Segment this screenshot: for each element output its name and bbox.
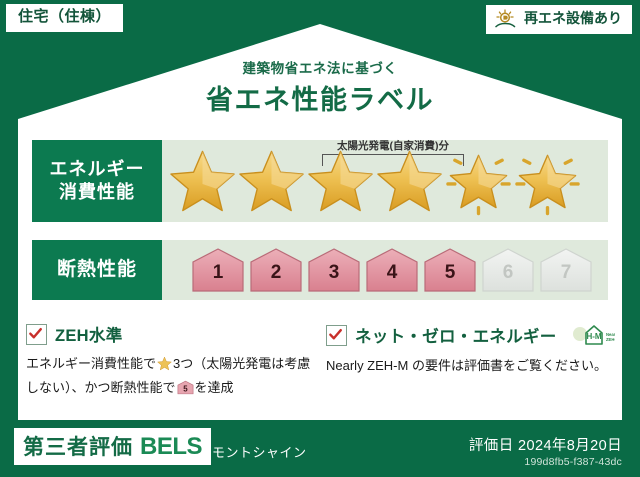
building-name: モントシャイン [212, 442, 307, 461]
energy-label-line1: エネルギー [50, 158, 145, 181]
evaluation-date: 評価日 2024年8月20日 [469, 434, 622, 455]
svg-text:H-M: H-M [586, 332, 601, 341]
insulation-badge-6: 6 [480, 247, 536, 293]
net-zero-checkbox [326, 325, 347, 346]
net-zero-title: ネット・ゼロ・エネルギー [355, 323, 557, 347]
svg-text:5: 5 [183, 384, 188, 393]
insulation-badge-2: 2 [248, 247, 304, 293]
insulation-badge-7: 7 [538, 247, 594, 293]
label-title: 省エネ性能ラベル [0, 78, 640, 117]
solar-sun-icon [494, 9, 518, 29]
energy-performance-label: エネルギー 消費性能 [32, 140, 162, 222]
insulation-badge-4: 4 [364, 247, 420, 293]
gold-star-icon [157, 356, 172, 377]
label-canvas: 住宅（住棟） 再エネ設備あり 建築物省エネ法に基づく 省エネ性能ラベル エネルギ… [0, 0, 640, 477]
house-level-icon: 5 [177, 380, 194, 401]
energy-star-group [162, 146, 582, 216]
zeh-standard-heading: ZEH水準 [26, 322, 321, 346]
insulation-badge-2-value: 2 [248, 263, 304, 282]
energy-label-line2: 消費性能 [59, 181, 135, 204]
energy-star-3 [306, 146, 375, 216]
energy-performance-row: エネルギー 消費性能 太陽光発電(自家消費)分 [32, 140, 608, 222]
insulation-badge-6-value: 6 [480, 263, 536, 282]
net-zero-energy-section: ネット・ゼロ・エネルギー H-M Nearly ZEH-M Nearly ZEH… [326, 322, 616, 376]
net-zero-heading: ネット・ゼロ・エネルギー H-M Nearly ZEH-M [326, 322, 616, 348]
zeh-standard-title: ZEH水準 [55, 322, 123, 346]
insulation-badge-group: 1 2 3 4 5 [162, 247, 594, 293]
insulation-label-text: 断熱性能 [57, 258, 137, 282]
zeh-body-part1: エネルギー消費性能で [26, 356, 156, 371]
label-subtitle: 建築物省エネ法に基づく [0, 57, 640, 77]
evaluation-id: 199d8fb5-f387-43dc [524, 456, 622, 468]
building-type-tag: 住宅（住棟） [6, 4, 123, 32]
evaluation-date-label: 評価日 [469, 438, 514, 454]
insulation-performance-label: 断熱性能 [32, 240, 162, 300]
check-icon [28, 326, 43, 341]
insulation-badge-5-value: 5 [422, 263, 478, 282]
bels-badge: 第三者評価 BELS [14, 428, 211, 465]
footer-bar: 第三者評価 BELS モントシャイン 評価日 2024年8月20日 199d8f… [0, 420, 640, 477]
insulation-performance-row: 断熱性能 1 2 3 4 [32, 240, 608, 300]
zeh-standard-body: エネルギー消費性能で3つ（太陽光発電は考慮しない）、かつ断熱性能で5を達成 [26, 353, 321, 401]
energy-star-4 [375, 146, 444, 216]
insulation-badge-7-value: 7 [538, 263, 594, 282]
insulation-badge-5: 5 [422, 247, 478, 293]
energy-star-1 [168, 146, 237, 216]
energy-star-solar-6 [513, 146, 582, 216]
zeh-standard-checkbox [26, 324, 47, 345]
insulation-badge-4-value: 4 [364, 263, 420, 282]
check-icon [328, 327, 343, 342]
insulation-badge-1: 1 [190, 247, 246, 293]
third-party-label: 第三者評価 [23, 431, 133, 461]
insulation-badge-1-value: 1 [190, 263, 246, 282]
zeh-m-house-icon: H-M Nearly ZEH-M [569, 322, 615, 348]
energy-star-2 [237, 146, 306, 216]
insulation-badge-3-value: 3 [306, 263, 362, 282]
evaluation-date-value: 2024年8月20日 [518, 438, 622, 454]
energy-star-track: 太陽光発電(自家消費)分 [162, 140, 608, 222]
insulation-badge-track: 1 2 3 4 5 [162, 240, 608, 300]
net-zero-body: Nearly ZEH-M の要件は評価書をご覧ください。 [326, 355, 616, 376]
svg-text:ZEH-M: ZEH-M [606, 337, 615, 342]
bels-scheme-name: BELS [140, 433, 202, 461]
zeh-m-logo: H-M Nearly ZEH-M [569, 322, 615, 348]
renewable-badge-label: 再エネ設備あり [524, 11, 622, 26]
renewable-equipment-badge: 再エネ設備あり [486, 5, 632, 34]
insulation-badge-3: 3 [306, 247, 362, 293]
zeh-body-part3: を達成 [195, 380, 234, 395]
energy-star-solar-5 [444, 146, 513, 216]
zeh-standard-section: ZEH水準 エネルギー消費性能で3つ（太陽光発電は考慮しない）、かつ断熱性能で5… [26, 322, 321, 401]
